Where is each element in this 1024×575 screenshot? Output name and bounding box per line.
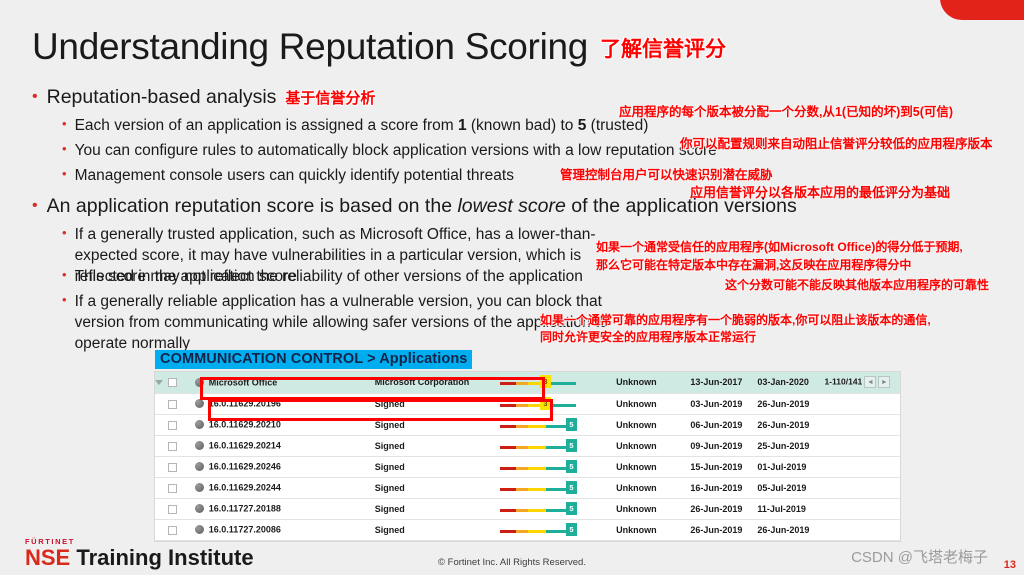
- reputation-meter: 3: [494, 397, 604, 411]
- cell-reputation-score: 5: [494, 435, 616, 456]
- annotation-block-version-cn-line2: 同时允许更安全的应用程序版本正常运行: [540, 328, 756, 345]
- status-sphere-icon: [195, 441, 204, 450]
- meter-segment-red: [500, 530, 516, 533]
- row-select-cell[interactable]: [155, 414, 195, 435]
- cell-last-seen: 05-Jul-2019: [757, 477, 824, 498]
- cell-unknown-status: Unknown: [616, 477, 690, 498]
- bullet2-part-a: An application reputation score is based…: [47, 195, 458, 217]
- application-name-label: 16.0.11629.20244: [209, 483, 281, 493]
- row-select-cell[interactable]: [155, 435, 195, 456]
- cell-reputation-score: 3: [494, 393, 616, 414]
- cell-reputation-score: 5: [494, 498, 616, 519]
- top-right-red-accent: [940, 0, 1024, 20]
- last-seen-date: 03-Jan-2020: [757, 377, 809, 387]
- cell-unknown-status: Unknown: [616, 456, 690, 477]
- sub-bullet-dot-icon: •: [62, 268, 67, 281]
- sub-bullet-identify-threats: • Management console users can quickly i…: [62, 166, 514, 187]
- sub-bullet-dot-icon: •: [62, 117, 67, 130]
- cell-application-name[interactable]: 16.0.11629.20196: [195, 393, 375, 414]
- row-select-cell[interactable]: [155, 393, 195, 414]
- publisher-label: Signed: [375, 420, 405, 430]
- title-text: Understanding Reputation Scoring: [32, 26, 588, 68]
- row-checkbox[interactable]: [168, 463, 177, 472]
- meter-segment-red: [500, 382, 516, 385]
- unknown-label: Unknown: [616, 525, 657, 535]
- sub-bullet-other-versions: • This score may not reflect the reliabi…: [62, 267, 583, 288]
- reputation-score-badge: 5: [566, 523, 577, 536]
- application-name-label: 16.0.11727.20086: [209, 525, 281, 535]
- status-sphere-icon: [195, 504, 204, 513]
- meter-segment-orange: [516, 530, 528, 533]
- cell-pagination[interactable]: [824, 393, 900, 414]
- application-name-label: Microsoft Office: [209, 378, 278, 388]
- publisher-label: Signed: [375, 525, 405, 535]
- publisher-label: Signed: [375, 462, 405, 472]
- publisher-label: Signed: [375, 441, 405, 451]
- row-select-cell[interactable]: [155, 498, 195, 519]
- meter-segment-orange: [516, 488, 528, 491]
- cell-reputation-score: 5: [494, 477, 616, 498]
- meter-segment-teal: [546, 509, 568, 512]
- cell-last-seen: 26-Jun-2019: [757, 519, 824, 540]
- row-checkbox[interactable]: [168, 421, 177, 430]
- application-name-label: 16.0.11629.20246: [209, 462, 281, 472]
- cell-pagination[interactable]: [824, 435, 900, 456]
- pagination-range: 1-110/141: [824, 377, 862, 387]
- annotation-trusted-app-cn-line2: 那么它可能在特定版本中存在漏洞,这反映在应用程序得分中: [596, 256, 911, 273]
- last-seen-date: 26-Jun-2019: [757, 399, 809, 409]
- meter-segment-teal: [546, 467, 568, 470]
- table-row[interactable]: 16.0.11629.20246Signed5Unknown15-Jun-201…: [155, 456, 900, 477]
- row-checkbox[interactable]: [168, 484, 177, 493]
- meter-segment-red: [500, 425, 516, 428]
- unknown-label: Unknown: [616, 504, 657, 514]
- status-sphere-icon: [195, 462, 204, 471]
- first-seen-date: 13-Jun-2017: [690, 377, 742, 387]
- title-annotation-cn: 了解信誉评分: [600, 33, 726, 63]
- row-select-cell[interactable]: [155, 372, 195, 393]
- meter-segment-orange: [516, 382, 528, 385]
- chevron-down-icon[interactable]: [155, 380, 163, 385]
- csdn-watermark: CSDN @飞塔老梅子: [851, 546, 988, 567]
- reputation-score-badge: 5: [566, 418, 577, 431]
- cell-pagination[interactable]: [824, 498, 900, 519]
- meter-segment-yellow: [528, 425, 546, 428]
- sub-bullet-dot-icon: •: [62, 293, 67, 306]
- breadcrumb-applications[interactable]: Applications: [379, 351, 467, 367]
- cell-first-seen: 26-Jun-2019: [690, 498, 757, 519]
- row-checkbox[interactable]: [168, 526, 177, 535]
- annotation-other-versions-cn: 这个分数可能不能反映其他版本应用程序的可靠性: [725, 276, 989, 293]
- sub-bullet-dot-icon: •: [62, 226, 67, 239]
- table-row[interactable]: 16.0.11629.20244Signed5Unknown16-Jun-201…: [155, 477, 900, 498]
- publisher-label: Signed: [375, 399, 405, 409]
- cell-application-name[interactable]: 16.0.11629.20210: [195, 414, 375, 435]
- page-number: 13: [1004, 559, 1016, 571]
- cell-pagination[interactable]: 1-110/141◄►: [824, 372, 900, 393]
- meter-segment-red: [500, 467, 516, 470]
- sub-bullet-5-text: This score may not reflect the reliabili…: [75, 267, 583, 288]
- slide-canvas: Understanding Reputation Scoring 了解信誉评分 …: [0, 0, 1024, 575]
- application-name-label: 16.0.11629.20210: [209, 420, 281, 430]
- status-sphere-icon: [195, 399, 204, 408]
- meter-segment-orange: [516, 446, 528, 449]
- status-sphere-icon: [195, 378, 204, 387]
- meter-segment-teal: [546, 446, 568, 449]
- status-sphere-icon: [195, 525, 204, 534]
- cell-unknown-status: Unknown: [616, 372, 690, 393]
- annotation-identify-threats-cn: 管理控制台用户可以快速识别潜在威胁: [560, 164, 773, 183]
- cell-publisher: Signed: [375, 435, 494, 456]
- applications-table: Microsoft OfficeMicrosoft Corporation3Un…: [155, 372, 900, 541]
- publisher-label: Microsoft Corporation: [375, 377, 470, 387]
- cell-first-seen: 09-Jun-2019: [690, 435, 757, 456]
- cell-publisher: Signed: [375, 498, 494, 519]
- table-row[interactable]: 16.0.11629.20214Signed5Unknown09-Jun-201…: [155, 435, 900, 456]
- reputation-score-badge: 5: [566, 481, 577, 494]
- row-select-cell[interactable]: [155, 456, 195, 477]
- breadcrumb-separator: >: [363, 351, 379, 367]
- meter-segment-orange: [516, 509, 528, 512]
- meter-segment-orange: [516, 425, 528, 428]
- meter-segment-red: [500, 404, 516, 407]
- row-checkbox[interactable]: [168, 505, 177, 514]
- bullet2-part-b: of the application versions: [566, 195, 797, 217]
- last-seen-date: 26-Jun-2019: [757, 525, 809, 535]
- bullet-1-annotation-cn: 基于信誉分析: [285, 87, 375, 108]
- first-seen-date: 09-Jun-2019: [690, 441, 742, 451]
- cell-first-seen: 06-Jun-2019: [690, 414, 757, 435]
- unknown-label: Unknown: [616, 420, 657, 430]
- cell-last-seen: 01-Jul-2019: [757, 456, 824, 477]
- cell-last-seen: 26-Jun-2019: [757, 393, 824, 414]
- cell-last-seen: 11-Jul-2019: [757, 498, 824, 519]
- reputation-score-badge: 3: [540, 375, 551, 388]
- status-sphere-icon: [195, 483, 204, 492]
- pagination-prev-button[interactable]: ◄: [864, 376, 876, 388]
- sub-bullet-configure-rules: • You can configure rules to automatical…: [62, 141, 717, 162]
- bullet-dot-icon: •: [32, 198, 38, 214]
- reputation-meter: 5: [494, 523, 604, 537]
- cell-pagination[interactable]: [824, 414, 900, 435]
- cell-unknown-status: Unknown: [616, 498, 690, 519]
- cell-unknown-status: Unknown: [616, 393, 690, 414]
- breadcrumb[interactable]: COMMUNICATION CONTROL > Applications: [155, 350, 472, 369]
- row-select-cell[interactable]: [155, 477, 195, 498]
- cell-unknown-status: Unknown: [616, 414, 690, 435]
- unknown-label: Unknown: [616, 441, 657, 451]
- meter-segment-orange: [516, 404, 528, 407]
- meter-segment-teal: [546, 530, 568, 533]
- sub-bullet-2-text: You can configure rules to automatically…: [75, 141, 717, 162]
- meter-segment-yellow: [528, 446, 546, 449]
- table-row[interactable]: Microsoft OfficeMicrosoft Corporation3Un…: [155, 372, 900, 393]
- reputation-score-badge: 5: [566, 439, 577, 452]
- cell-publisher: Signed: [375, 477, 494, 498]
- meter-segment-yellow: [528, 530, 546, 533]
- cell-last-seen: 03-Jan-2020: [757, 372, 824, 393]
- reputation-meter: 3: [494, 375, 604, 389]
- sub1-part-c: (known bad) to: [467, 117, 578, 134]
- meter-segment-red: [500, 509, 516, 512]
- cell-publisher: Microsoft Corporation: [375, 372, 494, 393]
- publisher-label: Signed: [375, 483, 405, 493]
- table-row[interactable]: 16.0.11727.20188Signed5Unknown26-Jun-201…: [155, 498, 900, 519]
- application-name-label: 16.0.11629.20214: [209, 441, 281, 451]
- last-seen-date: 11-Jul-2019: [757, 504, 806, 514]
- reputation-meter: 5: [494, 439, 604, 453]
- breadcrumb-main[interactable]: COMMUNICATION CONTROL: [160, 351, 363, 367]
- first-seen-date: 26-Jun-2019: [690, 525, 742, 535]
- meter-segment-red: [500, 446, 516, 449]
- reputation-meter: 5: [494, 418, 604, 432]
- cell-reputation-score: 3: [494, 372, 616, 393]
- bullet-dot-icon: •: [32, 89, 38, 105]
- annotation-configure-rules-cn: 你可以配置规则来自动阻止信誉评分较低的应用程序版本: [680, 133, 993, 152]
- cell-publisher: Signed: [375, 456, 494, 477]
- cell-application-name[interactable]: 16.0.11629.20246: [195, 456, 375, 477]
- cell-last-seen: 25-Jun-2019: [757, 435, 824, 456]
- cell-last-seen: 26-Jun-2019: [757, 414, 824, 435]
- table-row[interactable]: 16.0.11727.20086Signed5Unknown26-Jun-201…: [155, 519, 900, 540]
- cell-application-name[interactable]: 16.0.11629.20214: [195, 435, 375, 456]
- cell-publisher: Signed: [375, 414, 494, 435]
- cell-unknown-status: Unknown: [616, 519, 690, 540]
- annotation-block-version-cn-line1: 如果一个通常可靠的应用程序有一个脆弱的版本,你可以阻止该版本的通信,: [540, 311, 931, 328]
- meter-segment-red: [500, 488, 516, 491]
- reputation-meter: 5: [494, 481, 604, 495]
- meter-segment-yellow: [528, 488, 546, 491]
- annotation-trusted-app-cn-line1: 如果一个通常受信任的应用程序(如Microsoft Office)的得分低于预期…: [596, 238, 963, 255]
- bullet-2-text: An application reputation score is based…: [47, 195, 797, 218]
- unknown-label: Unknown: [616, 377, 657, 387]
- row-checkbox[interactable]: [168, 400, 177, 409]
- cell-pagination[interactable]: [824, 456, 900, 477]
- last-seen-date: 26-Jun-2019: [757, 420, 809, 430]
- reputation-meter: 5: [494, 460, 604, 474]
- publisher-label: Signed: [375, 504, 405, 514]
- reputation-meter: 5: [494, 502, 604, 516]
- reputation-score-badge: 5: [566, 502, 577, 515]
- communication-control-screenshot: COMMUNICATION CONTROL > Applications Mic…: [155, 350, 900, 541]
- cell-first-seen: 16-Jun-2019: [690, 477, 757, 498]
- sub-bullet-dot-icon: •: [62, 142, 67, 155]
- reputation-score-badge: 3: [540, 397, 551, 410]
- cell-unknown-status: Unknown: [616, 435, 690, 456]
- score-min-value: 1: [458, 117, 467, 134]
- sub-bullet-dot-icon: •: [62, 167, 67, 180]
- cell-reputation-score: 5: [494, 519, 616, 540]
- meter-segment-yellow: [528, 467, 546, 470]
- cell-publisher: Signed: [375, 393, 494, 414]
- meter-segment-teal: [546, 425, 568, 428]
- last-seen-date: 05-Jul-2019: [757, 483, 806, 493]
- last-seen-date: 01-Jul-2019: [757, 462, 806, 472]
- row-checkbox[interactable]: [168, 442, 177, 451]
- cell-first-seen: 03-Jun-2019: [690, 393, 757, 414]
- meter-segment-teal: [546, 488, 568, 491]
- sub-bullet-score-range: • Each version of an application is assi…: [62, 116, 648, 137]
- application-name-label: 16.0.11629.20196: [209, 399, 281, 409]
- cell-reputation-score: 5: [494, 414, 616, 435]
- cell-first-seen: 26-Jun-2019: [690, 519, 757, 540]
- cell-application-name[interactable]: 16.0.11727.20188: [195, 498, 375, 519]
- cell-pagination[interactable]: [824, 519, 900, 540]
- pagination-next-button[interactable]: ►: [878, 376, 890, 388]
- bullet-1-text: Reputation-based analysis: [47, 86, 277, 109]
- annotation-score-range-cn: 应用程序的每个版本被分配一个分数,从1(已知的坏)到5(可信): [619, 101, 953, 120]
- first-seen-date: 16-Jun-2019: [690, 483, 742, 493]
- unknown-label: Unknown: [616, 483, 657, 493]
- unknown-label: Unknown: [616, 462, 657, 472]
- sub1-part-a: Each version of an application is assign…: [75, 117, 458, 134]
- cell-first-seen: 13-Jun-2017: [690, 372, 757, 393]
- cell-publisher: Signed: [375, 519, 494, 540]
- cell-application-name[interactable]: 16.0.11629.20244: [195, 477, 375, 498]
- row-checkbox[interactable]: [168, 378, 177, 387]
- table-row[interactable]: 16.0.11629.20210Signed5Unknown06-Jun-201…: [155, 414, 900, 435]
- first-seen-date: 15-Jun-2019: [690, 462, 742, 472]
- meter-segment-yellow: [528, 509, 546, 512]
- first-seen-date: 06-Jun-2019: [690, 420, 742, 430]
- sub-bullet-1-text: Each version of an application is assign…: [75, 116, 649, 137]
- bullet-lowest-score: • An application reputation score is bas…: [32, 195, 797, 218]
- first-seen-date: 03-Jun-2019: [690, 399, 742, 409]
- application-name-label: 16.0.11727.20188: [209, 504, 281, 514]
- first-seen-date: 26-Jun-2019: [690, 504, 742, 514]
- status-sphere-icon: [195, 420, 204, 429]
- sub-bullet-3-text: Management console users can quickly ide…: [75, 166, 514, 187]
- cell-reputation-score: 5: [494, 456, 616, 477]
- page-title: Understanding Reputation Scoring 了解信誉评分: [32, 26, 726, 68]
- cell-first-seen: 15-Jun-2019: [690, 456, 757, 477]
- reputation-score-badge: 5: [566, 460, 577, 473]
- cell-application-name[interactable]: Microsoft Office: [195, 372, 375, 393]
- unknown-label: Unknown: [616, 399, 657, 409]
- bullet-reputation-based-analysis: • Reputation-based analysis 基于信誉分析: [32, 86, 375, 109]
- lowest-score-emphasis: lowest score: [457, 195, 565, 217]
- meter-segment-orange: [516, 467, 528, 470]
- table-row[interactable]: 16.0.11629.20196Signed3Unknown03-Jun-201…: [155, 393, 900, 414]
- cell-pagination[interactable]: [824, 477, 900, 498]
- last-seen-date: 25-Jun-2019: [757, 441, 809, 451]
